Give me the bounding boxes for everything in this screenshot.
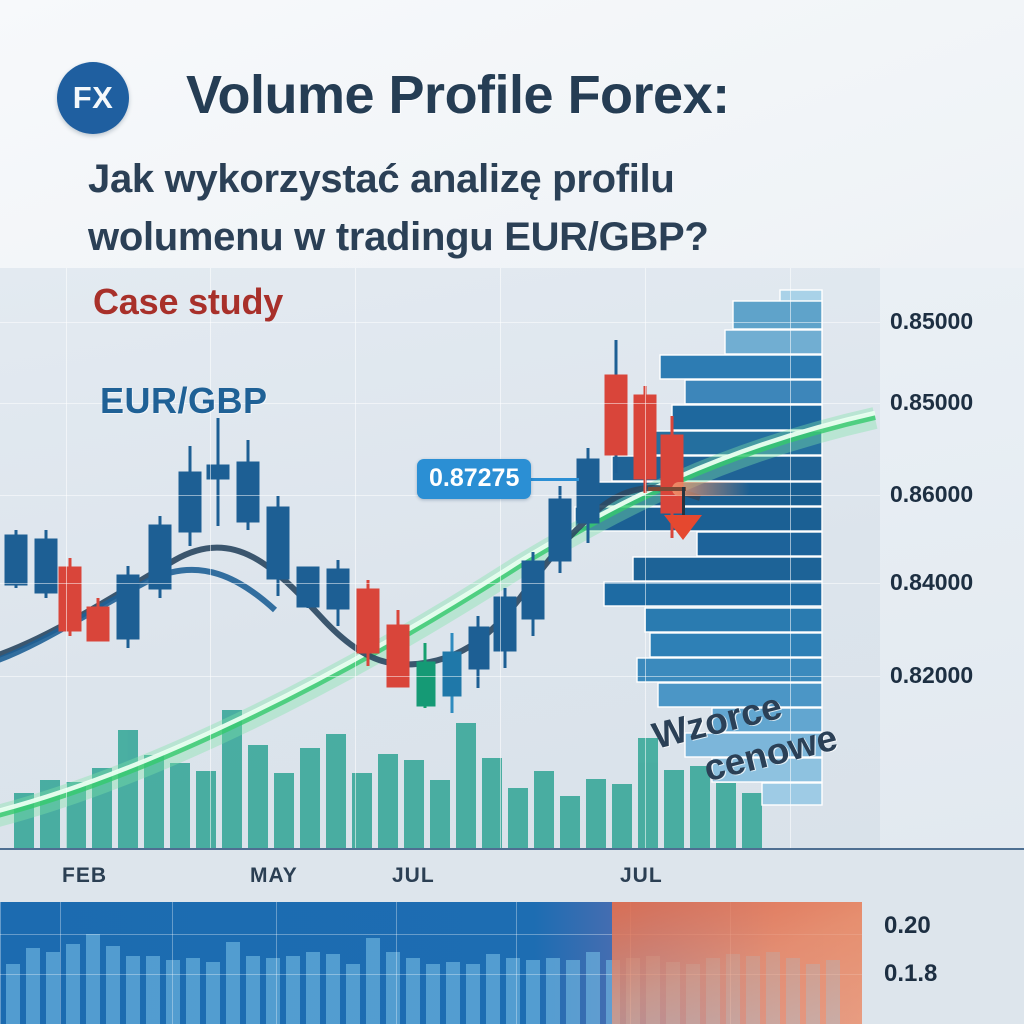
panel-gridline	[172, 902, 173, 1024]
time-axis: FEB MAY JUL JUL	[0, 848, 1024, 902]
price-tick: 0.85000	[890, 308, 973, 335]
panel-gridline	[516, 902, 517, 1024]
price-tick: 0.84000	[890, 569, 973, 596]
fx-logo-icon: FX	[57, 62, 129, 134]
gridline-vertical	[645, 268, 646, 848]
gridline-vertical	[500, 268, 501, 848]
page-title: Volume Profile Forex:	[186, 64, 730, 126]
price-tick: 0.86000	[890, 481, 973, 508]
currency-pair-label: EUR/GBP	[100, 380, 268, 422]
panel-gridline	[396, 902, 397, 1024]
gridline-horizontal	[0, 583, 880, 584]
price-axis: 0.85000 0.85000 0.86000 0.84000 0.82000	[880, 268, 1024, 848]
volume-overview-panel[interactable]	[0, 902, 862, 1024]
signal-crossbar	[648, 487, 686, 491]
gridline-vertical	[66, 268, 67, 848]
bottom-axis-tick: 0.20	[884, 912, 931, 940]
bottom-axis-tick: 0.1.8	[884, 960, 937, 988]
gridline-horizontal	[0, 676, 880, 677]
gridline-vertical	[355, 268, 356, 848]
gridline-vertical	[210, 268, 211, 848]
sell-signal-arrow-icon	[664, 515, 702, 540]
price-tick: 0.82000	[890, 662, 973, 689]
price-tooltip[interactable]: 0.87275	[417, 459, 531, 499]
panel-gridline	[0, 902, 1, 1024]
panel-heat-overlay	[612, 902, 862, 1024]
panel-gridline	[60, 902, 61, 1024]
month-tick: JUL	[620, 864, 663, 888]
panel-gridline	[276, 902, 277, 1024]
price-tick: 0.85000	[890, 389, 973, 416]
month-tick: MAY	[250, 864, 298, 888]
signal-stem	[682, 487, 685, 517]
month-tick: FEB	[62, 864, 107, 888]
poster-canvas: 0.87275 EUR/GBP Wzorce cenowe 0.85000 0.…	[0, 0, 1024, 1024]
case-study-badge: Case study	[93, 281, 283, 323]
bottom-panel-axis: 0.20 0.1.8	[862, 902, 1024, 1024]
subtitle-line-1: Jak wykorzystać analizę profilu	[88, 157, 675, 202]
fx-logo-label: FX	[57, 62, 129, 134]
tooltip-leader-line	[525, 478, 579, 481]
subtitle-line-2: wolumenu w tradingu EUR/GBP?	[88, 215, 709, 260]
month-tick: JUL	[392, 864, 435, 888]
